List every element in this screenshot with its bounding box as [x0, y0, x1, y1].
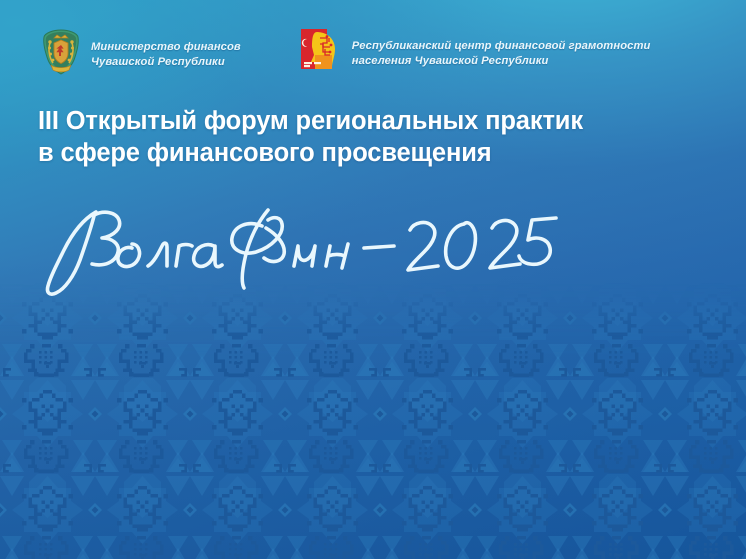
logo-ministry-line-2: Чувашской Республики — [91, 55, 241, 70]
poster-canvas: Министерство финансов Чувашской Республи… — [0, 0, 746, 559]
wordmark-strokes — [47, 210, 556, 294]
logo-center-label: Республиканский центр финансовой грамотн… — [352, 39, 651, 68]
logo-ministry-line-1: Министерство финансов — [91, 40, 241, 55]
logo-center-line-2: населения Чувашской Республики — [352, 54, 651, 69]
logo-financial-literacy-center[interactable]: Республиканский центр финансовой грамотн… — [301, 29, 651, 78]
logo-center-line-1: Республиканский центр финансовой грамотн… — [352, 39, 651, 54]
logo-ministry-label: Министерство финансов Чувашской Республи… — [91, 40, 241, 69]
logo-ministry-of-finance[interactable]: Министерство финансов Чувашской Республи… — [42, 29, 241, 80]
ornament-fill — [0, 282, 746, 559]
chuvash-ornament-band — [0, 282, 746, 559]
headline-line-1: III Открытый форум региональных практик — [38, 105, 698, 137]
forum-headline: III Открытый форум региональных практик … — [38, 105, 698, 169]
chuvashia-coat-of-arms-emblem — [42, 29, 80, 80]
financial-literacy-head-icon — [301, 29, 341, 78]
event-wordmark — [36, 204, 556, 300]
headline-line-2: в сфере финансового просвещения — [38, 137, 698, 169]
logo-row: Министерство финансов Чувашской Республи… — [42, 29, 650, 80]
